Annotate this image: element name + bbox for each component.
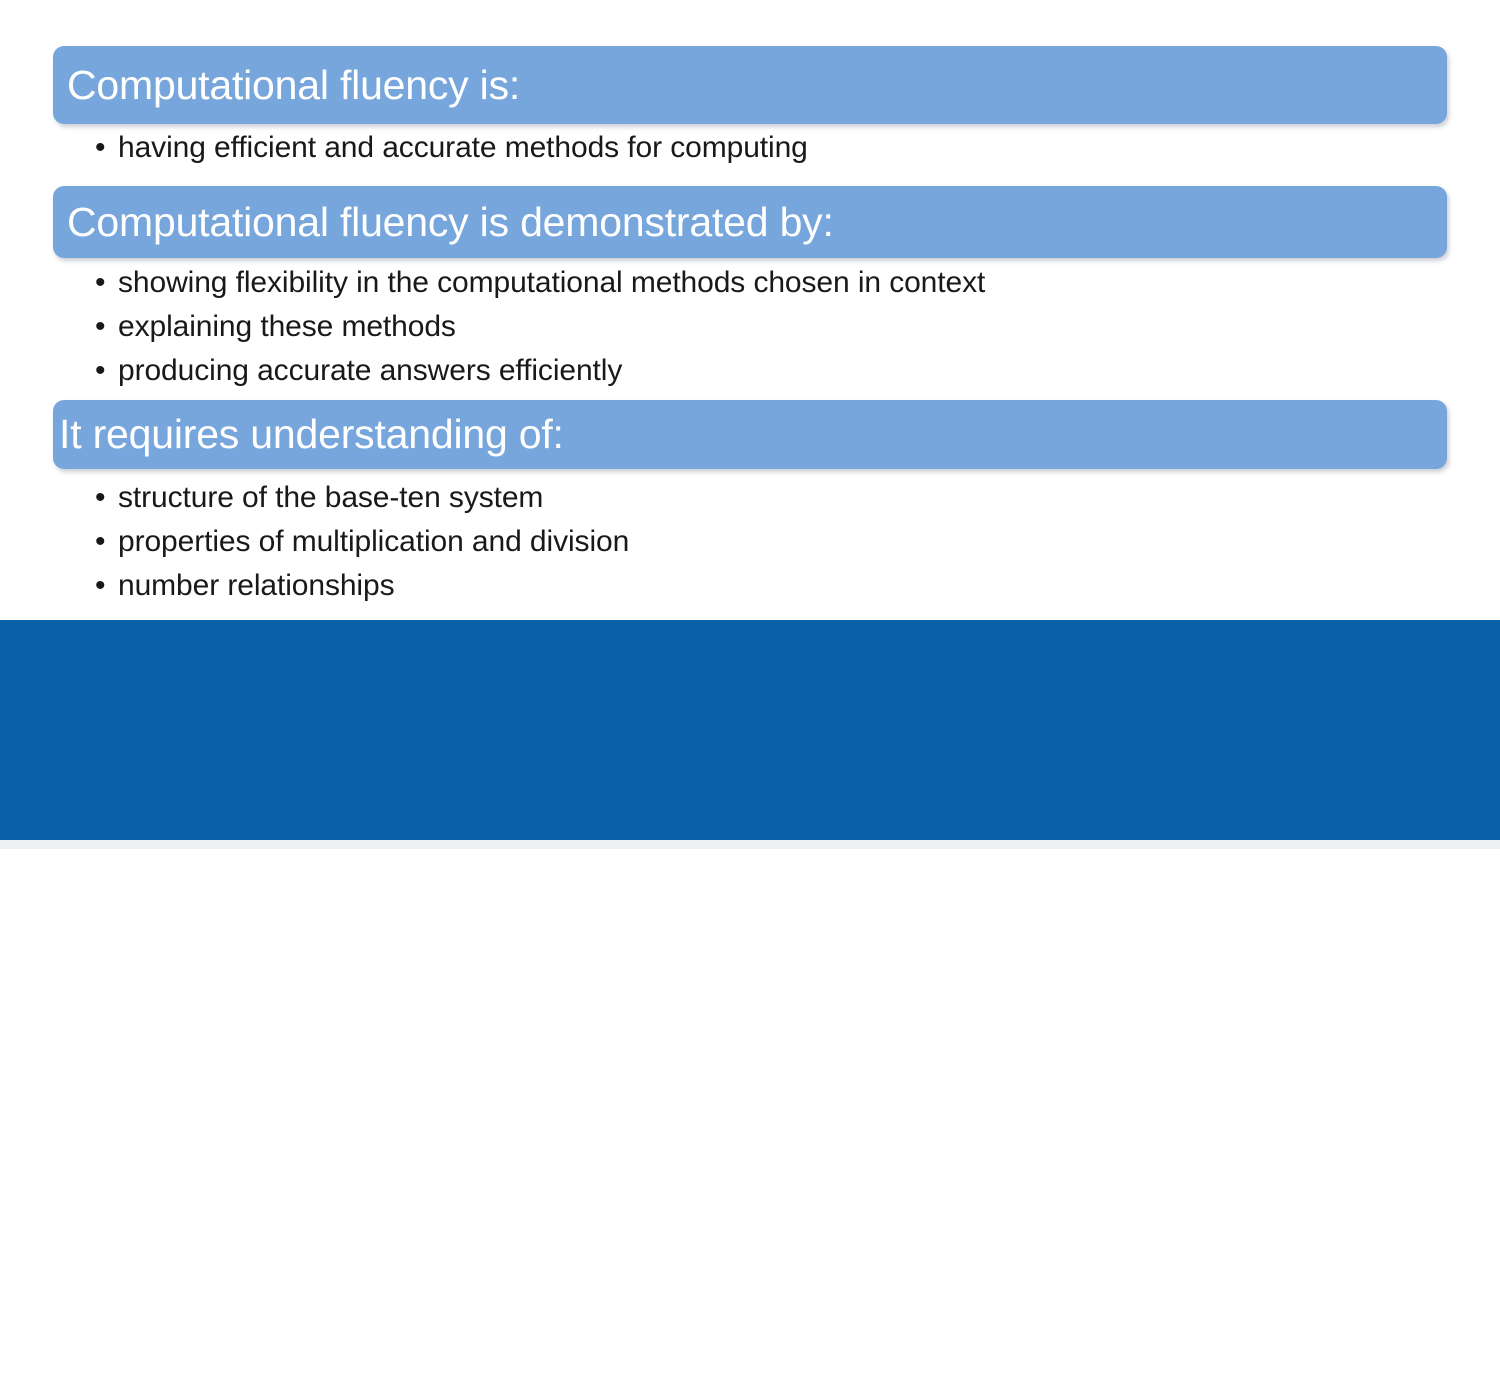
bullet-list-1: • having efficient and accurate methods … [95,126,808,170]
bullet-text: showing flexibility in the computational… [118,261,985,305]
list-item: • properties of multiplication and divis… [95,520,629,564]
section-heading-bar-1: Computational fluency is: [53,46,1447,124]
bullet-dot-icon: • [95,261,118,305]
list-item: • producing accurate answers efficiently [95,349,985,393]
bullet-text: number relationships [118,564,394,608]
list-item: • number relationships [95,564,629,608]
bullet-dot-icon: • [95,305,118,349]
slide: Computational fluency is: • having effic… [0,0,1500,849]
bullet-list-3: • structure of the base-ten system • pro… [95,476,629,608]
bullet-dot-icon: • [95,520,118,564]
section-heading-bar-2: Computational fluency is demonstrated by… [53,186,1447,258]
bullet-text: producing accurate answers efficiently [118,349,622,393]
list-item: • structure of the base-ten system [95,476,629,520]
slide-content-area: Computational fluency is: • having effic… [0,0,1500,620]
section-heading-label-3: It requires understanding of: [53,414,564,455]
logo-wordmark: RICHMOND [1192,1322,1433,1360]
bullet-dot-icon: • [95,564,118,608]
list-item: • showing flexibility in the computation… [95,261,985,305]
list-item: • having efficient and accurate methods … [95,126,808,170]
list-item: • explaining these methods [95,305,985,349]
source-citation: ~NCTM Principles and Standards (2000), p… [57,1303,711,1339]
bullet-list-2: • showing flexibility in the computation… [95,261,985,393]
bullet-dot-icon: • [95,349,118,393]
bullet-text: explaining these methods [118,305,456,349]
section-heading-label-1: Computational fluency is: [53,65,520,106]
slide-footer: ~NCTM Principles and Standards (2000), p… [0,620,1500,840]
bullet-text: having efficient and accurate methods fo… [118,126,808,170]
bullet-text: structure of the base-ten system [118,476,543,520]
section-heading-bar-3: It requires understanding of: [53,400,1447,469]
richmond-school-district-logo: RICHMOND SCHOOL DISTRICT NO.38 [1192,1322,1424,1380]
bullet-text: properties of multiplication and divisio… [118,520,629,564]
logo-subline: SCHOOL DISTRICT NO.38 [1192,1362,1424,1380]
bullet-dot-icon: • [95,476,118,520]
bullet-dot-icon: • [95,126,118,170]
section-heading-label-2: Computational fluency is demonstrated by… [53,202,834,243]
footer-bottom-accent-strip [0,840,1500,849]
